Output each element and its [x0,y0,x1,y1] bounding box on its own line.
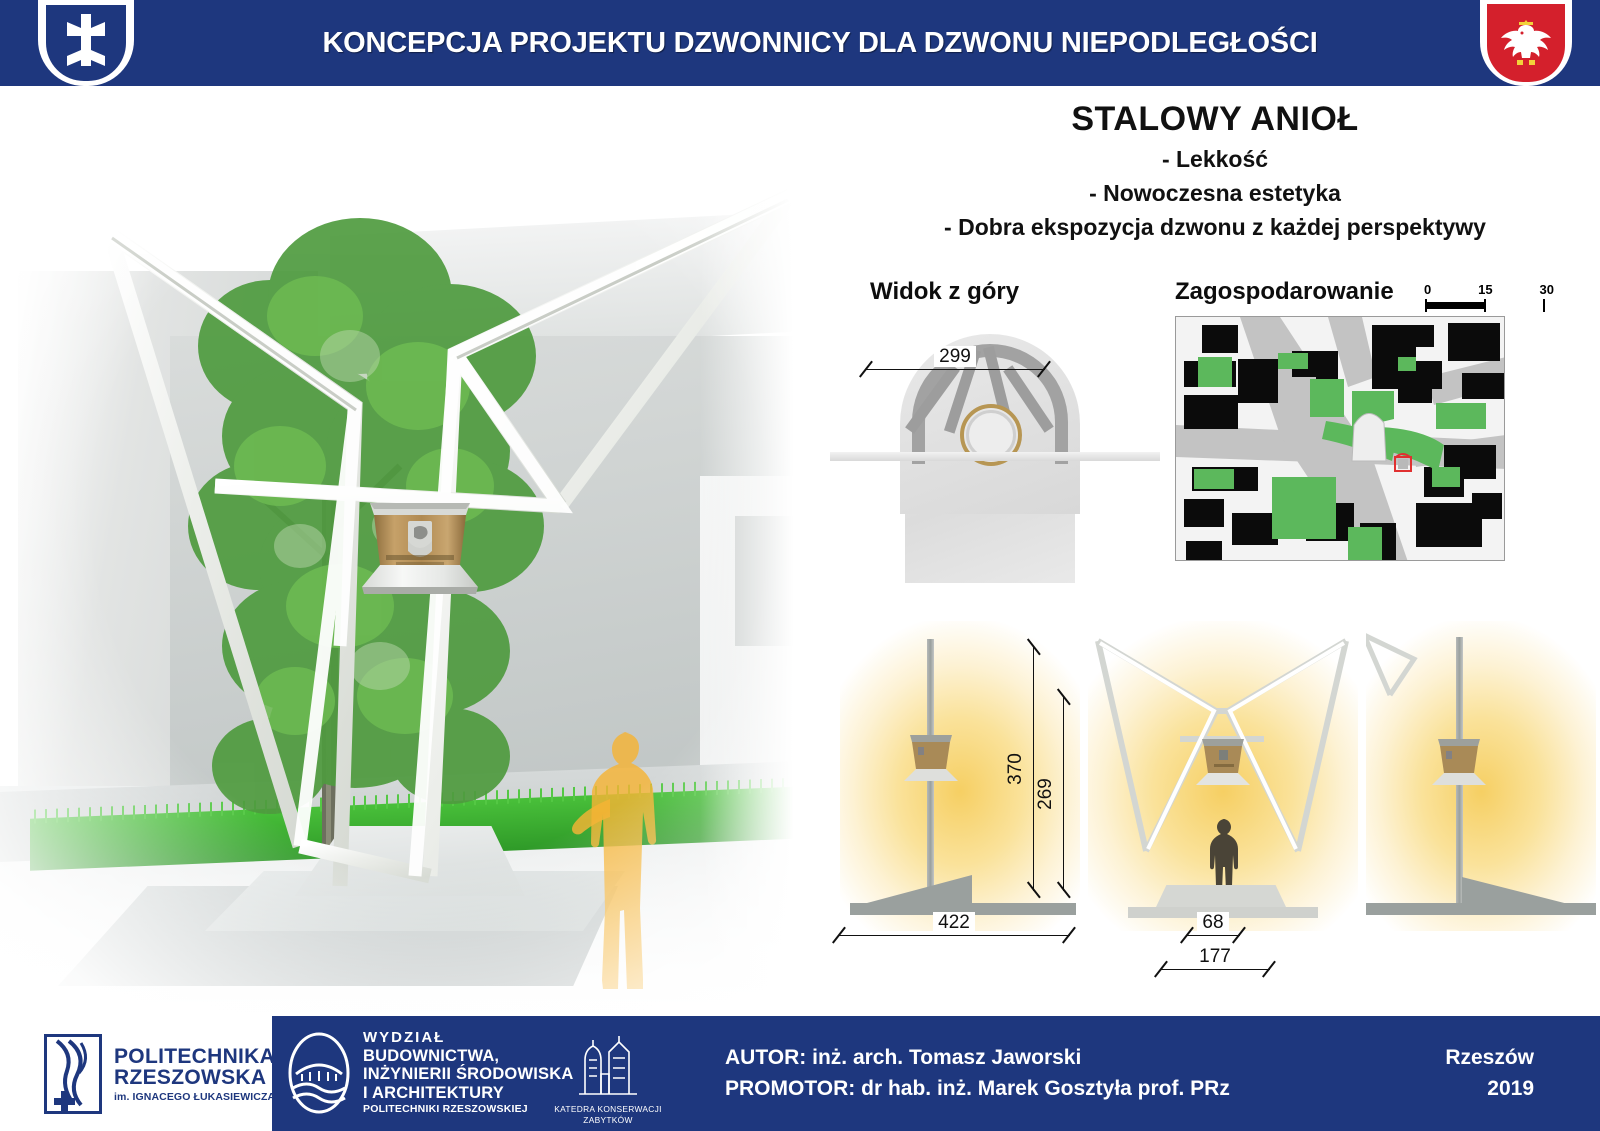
credits-block: AUTOR: inż. arch. Tomasz Jaworski PROMOT… [725,1042,1230,1104]
faculty-line-3: INŻYNIERII ŚRODOWISKA [363,1065,573,1083]
right-wing-fragment [1366,629,1420,699]
elevation-row [830,621,1600,931]
front-elevation [1088,621,1358,931]
top-view-label: Widok z góry [870,278,1019,306]
dimension-plinth-large: 177 [1160,958,1270,980]
board-footer: POLITECHNIKA RZESZOWSKA im. IGNACEGO ŁUK… [0,1016,1600,1131]
department-line-2: ZABYTKÓW [553,1115,663,1126]
university-line-2: RZESZOWSKA [114,1067,275,1088]
supervisor-line: PROMOTOR: dr hab. inż. Marek Gosztyła pr… [725,1073,1230,1104]
department-line-1: KATEDRA KONSERWACJI [553,1104,663,1115]
concept-title: STALOWY ANIOŁ [830,100,1600,139]
politechnika-rzeszowska-logo: POLITECHNIKA RZESZOWSKA im. IGNACEGO ŁUK… [44,1034,275,1114]
concept-bullet-3: - Dobra ekspozycja dzwonu z każdej persp… [830,214,1600,241]
dimension-value-68: 68 [1197,912,1228,933]
scale-tick-15: 15 [1478,282,1492,297]
front-scale-person [1208,817,1242,893]
bell-side-left [896,729,966,791]
pr-monogram-icon [44,1034,102,1114]
side-elevation-right [1366,621,1596,931]
scale-tick-0: 0 [1424,282,1431,297]
faculty-logo: WYDZIAŁ BUDOWNICTWA, INŻYNIERII ŚRODOWIS… [288,1030,573,1116]
site-plan-label: Zagospodarowanie [1175,278,1394,306]
department-logo: KATEDRA KONSERWACJI ZABYTKÓW [553,1032,663,1125]
university-line-3: im. IGNACEGO ŁUKASIEWICZA [114,1092,275,1103]
dimension-total-height: 370 [1022,646,1046,891]
author-line: AUTOR: inż. arch. Tomasz Jaworski [725,1042,1230,1073]
board-title: KONCEPCJA PROJEKTU DZWONNICY DLA DZWONU … [0,0,1600,86]
front-plinth [1156,885,1286,907]
concept-title-block: STALOWY ANIOŁ - Lekkość - Nowoczesna est… [830,100,1600,241]
dimension-value-422: 422 [933,912,975,933]
human-scale-figure [560,726,710,991]
perspective-render [0,86,830,1016]
university-line-1: POLITECHNIKA [114,1046,275,1067]
city-label: Rzeszów [1445,1042,1534,1073]
faculty-line-1: WYDZIAŁ [363,1030,573,1047]
dimension-base-width: 422 [838,924,1070,946]
faculty-emblem-icon [288,1032,350,1114]
concept-bullet-1: - Lekkość [830,146,1600,173]
concept-bullet-2: - Nowoczesna estetyka [830,180,1600,207]
base-slab-right [1366,903,1596,915]
dimension-value-177: 177 [1194,946,1236,967]
dimension-bell-height: 269 [1052,696,1076,891]
board-header: KONCEPCJA PROJEKTU DZWONNICY DLA DZWONU … [0,0,1600,86]
dimension-plinth-small: 68 [1186,924,1240,946]
dimension-value-269: 269 [1035,778,1056,810]
year-label: 2019 [1445,1073,1534,1104]
dimension-value-299: 299 [934,346,976,367]
site-plan-map [1175,316,1505,561]
bell-side-right [1424,733,1494,795]
faculty-line-5: POLITECHNIKI RZESZOWSKIEJ [363,1104,573,1116]
right-panel: STALOWY ANIOŁ - Lekkość - Nowoczesna est… [830,86,1600,1016]
scale-tick-30: 30 [1540,282,1554,297]
presentation-board: KONCEPCJA PROJEKTU DZWONNICY DLA DZWONU … [0,0,1600,1131]
faculty-line-2: BUDOWNICTWA, [363,1047,573,1065]
dimension-value-370: 370 [1005,753,1026,785]
polish-eagle-icon [1480,0,1572,86]
top-view-mast-bar [830,452,1160,461]
place-block: Rzeszów 2019 [1445,1042,1534,1104]
site-plan-scale-bar: 0 15 30 [1424,282,1554,309]
bell-front [1188,733,1258,795]
bell-niepodleglosci [340,481,500,611]
historic-building-icon [565,1032,651,1098]
faculty-line-4: I ARCHITEKTURY [363,1084,573,1102]
dimension-top-view-width: 299 [865,358,1045,380]
